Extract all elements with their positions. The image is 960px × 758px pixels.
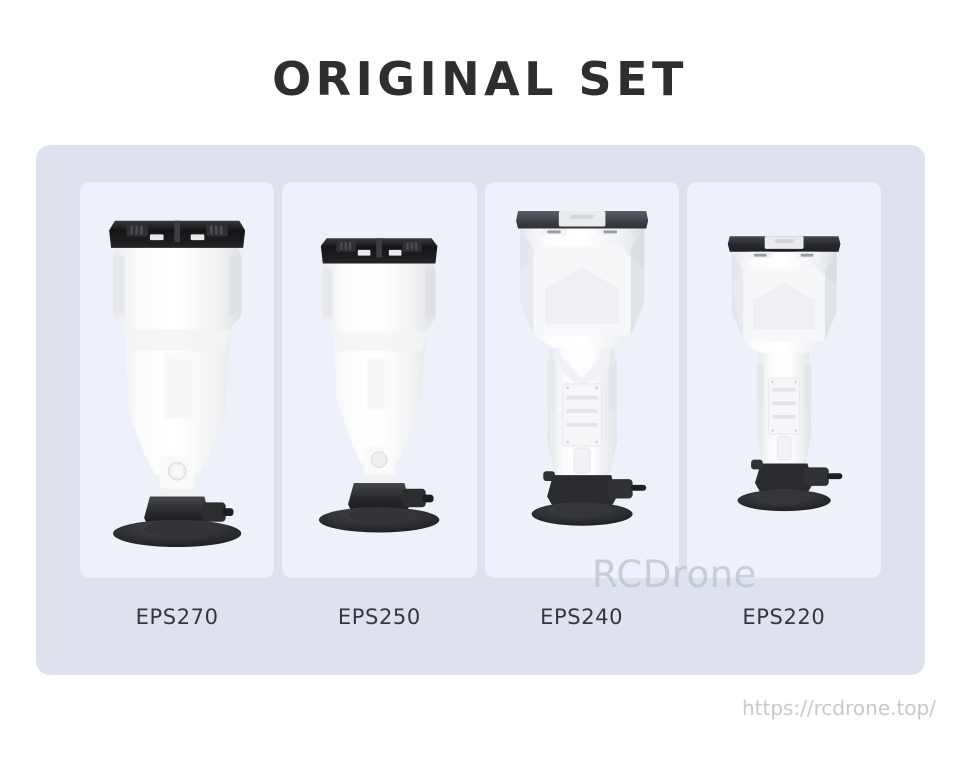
product-label-row: EPS270 EPS250 EPS240 EPS220 [80,597,881,637]
spreader-hopper-icon [687,182,881,578]
product-label-eps270: EPS270 [80,597,274,637]
spreader-tank-icon [80,182,274,578]
footer-url: https://rcdrone.top/ [742,696,936,720]
product-label-eps240: EPS240 [485,597,679,637]
product-card-eps250[interactable] [282,182,476,578]
product-label-eps250: EPS250 [282,597,476,637]
product-card-eps270[interactable] [80,182,274,578]
product-card-row [80,182,881,578]
page-title: ORIGINAL SET [0,52,960,106]
spreader-tank-icon [282,182,476,578]
spreader-hopper-icon [485,182,679,578]
product-card-eps240[interactable] [485,182,679,578]
product-label-eps220: EPS220 [687,597,881,637]
product-card-eps220[interactable] [687,182,881,578]
product-panel: EPS270 EPS250 EPS240 EPS220 [36,145,925,675]
